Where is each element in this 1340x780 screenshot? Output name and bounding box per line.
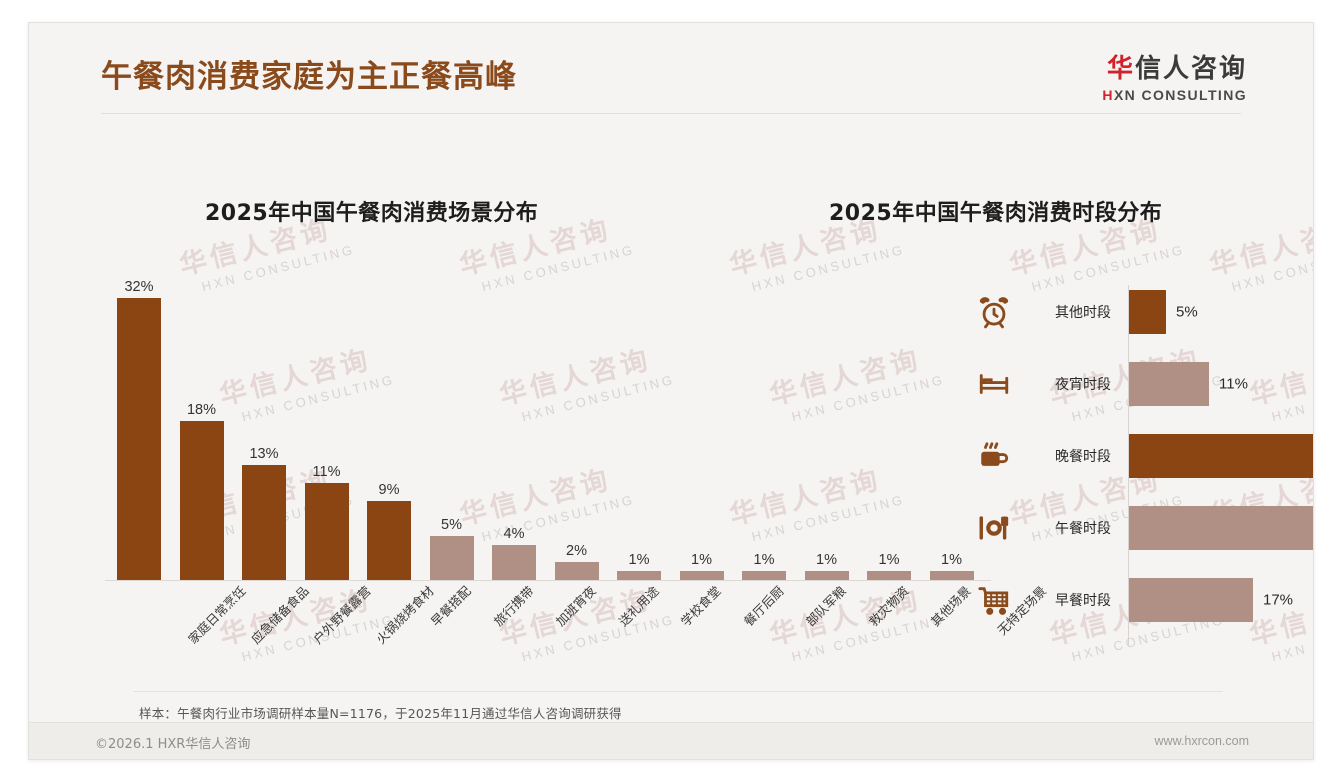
column-bar-label: 救灾物资 (863, 581, 912, 630)
column-bar-label: 户外野餐露营 (308, 581, 374, 647)
dinner-plate-icon (977, 511, 1011, 545)
coffee-cup-icon (977, 439, 1011, 473)
alarm-clock-icon (977, 295, 1011, 329)
bed-icon (977, 367, 1011, 401)
column-bar-label: 部队军粮 (801, 581, 850, 630)
bar-fill (1129, 290, 1166, 334)
bar-fill (1129, 434, 1314, 478)
scene-distribution-chart: 32%家庭日常烹饪18%应急储备食品13%户外野餐露营11%火锅烧烤食材9%早餐… (81, 281, 991, 581)
column-bar-item[interactable]: 18% (180, 421, 224, 580)
shopping-cart-icon (977, 583, 1011, 617)
chart-baseline (105, 580, 991, 581)
column-bar (680, 571, 724, 580)
column-bar-item[interactable]: 1% (617, 571, 661, 580)
column-bar-value: 5% (441, 517, 462, 533)
column-bar (492, 545, 536, 580)
column-bar-label: 加班宵夜 (551, 581, 600, 630)
column-bar-item[interactable]: 2% (555, 562, 599, 580)
logo-english: HXN CONSULTING (1102, 87, 1247, 103)
bar-row[interactable]: 午餐时段28% (969, 503, 1299, 553)
column-bar-value: 11% (313, 464, 341, 480)
note-divider (133, 691, 1223, 692)
column-bar-label: 送礼用途 (613, 581, 662, 630)
logo-chinese-rest: 信人咨询 (1135, 54, 1247, 84)
column-bar-value: 1% (754, 552, 775, 568)
website-link[interactable]: www.hxrcon.com (1155, 734, 1249, 748)
column-bar-value: 1% (879, 552, 900, 568)
column-bar-value: 1% (816, 552, 837, 568)
column-bar-item[interactable]: 1% (680, 571, 724, 580)
bar-row-value: 5% (1176, 304, 1198, 321)
bar-row[interactable]: 夜宵时段11% (969, 359, 1299, 409)
footer-bar: ©2026.1 HXR华信人咨询 www.hxrcon.com (29, 722, 1313, 759)
bar-row[interactable]: 早餐时段17% (969, 575, 1299, 625)
column-bar-value: 1% (629, 552, 650, 568)
chart-title-scene: 2025年中国午餐肉消费场景分布 (205, 195, 538, 227)
column-bar (242, 465, 286, 580)
column-bar (867, 571, 911, 580)
copyright-text: ©2026.1 HXR华信人咨询 (95, 733, 250, 752)
logo-chinese-accent: 华 (1107, 54, 1135, 84)
column-bar-value: 9% (379, 482, 400, 498)
column-bar (742, 571, 786, 580)
column-bar-item[interactable]: 4% (492, 545, 536, 580)
bar-row[interactable]: 晚餐时段39% (969, 431, 1299, 481)
column-bar-value: 2% (566, 543, 587, 559)
header-divider (101, 113, 1241, 114)
column-bar (180, 421, 224, 580)
slide-header: 午餐肉消费家庭为主正餐高峰 华信人咨询 HXN CONSULTING (29, 23, 1313, 111)
column-bar (555, 562, 599, 580)
column-bar-value: 32% (124, 279, 153, 295)
bar-row-label: 午餐时段 (1055, 518, 1111, 538)
column-bar-label: 旅行携带 (488, 581, 537, 630)
column-bar-item[interactable]: 5% (430, 536, 474, 580)
column-bar-value: 1% (691, 552, 712, 568)
column-bar-label: 餐厅后厨 (738, 581, 787, 630)
column-bar-item[interactable]: 1% (742, 571, 786, 580)
column-bar (930, 571, 974, 580)
logo-english-rest: XN CONSULTING (1114, 87, 1247, 103)
column-bar-item[interactable]: 1% (805, 571, 849, 580)
column-bar (117, 298, 161, 580)
bar-row-label: 夜宵时段 (1055, 374, 1111, 394)
column-bar-item[interactable]: 32% (117, 298, 161, 580)
bar-row-value: 17% (1263, 592, 1293, 609)
column-bar-label: 应急储备食品 (245, 581, 311, 647)
column-bar-value: 4% (504, 526, 525, 542)
bar-row[interactable]: 其他时段5% (969, 287, 1299, 337)
bar-row-label: 其他时段 (1055, 302, 1111, 322)
column-bar-label: 其他场景 (926, 581, 975, 630)
bar-fill (1129, 578, 1253, 622)
logo-chinese: 华信人咨询 (1102, 55, 1247, 84)
bar-row-label: 晚餐时段 (1055, 446, 1111, 466)
slide-canvas: 华信人咨询HXN CONSULTING华信人咨询HXN CONSULTING华信… (28, 22, 1314, 760)
column-bar-label: 家庭日常烹饪 (183, 581, 249, 647)
column-bar-item[interactable]: 11% (305, 483, 349, 580)
column-bar (805, 571, 849, 580)
column-bar-item[interactable]: 1% (930, 571, 974, 580)
logo-english-accent: H (1102, 87, 1114, 103)
column-bar-item[interactable]: 1% (867, 571, 911, 580)
column-bar (367, 501, 411, 580)
column-bar-item[interactable]: 9% (367, 501, 411, 580)
column-bar (305, 483, 349, 580)
bar-fill (1129, 362, 1209, 406)
column-bar-value: 13% (249, 446, 278, 462)
page-title: 午餐肉消费家庭为主正餐高峰 (101, 51, 517, 96)
watermark: 华信人咨询HXN CONSULTING (765, 573, 946, 668)
bar-row-value: 11% (1219, 376, 1248, 393)
column-bar-item[interactable]: 13% (242, 465, 286, 580)
bar-fill (1129, 506, 1314, 550)
column-bar (617, 571, 661, 580)
column-bar-value: 18% (187, 402, 216, 418)
time-distribution-chart: 其他时段5%夜宵时段11%晚餐时段39%午餐时段28%早餐时段17% (969, 281, 1299, 649)
bar-row-label: 早餐时段 (1055, 590, 1111, 610)
column-bar-value: 1% (941, 552, 962, 568)
column-bar-label: 早餐搭配 (426, 581, 475, 630)
column-bar (430, 536, 474, 580)
company-logo: 华信人咨询 HXN CONSULTING (1102, 55, 1247, 103)
chart-title-time: 2025年中国午餐肉消费时段分布 (829, 195, 1162, 227)
sample-note: 样本：午餐肉行业市场调研样本量N=1176，于2025年11月通过华信人咨询调研… (139, 703, 622, 722)
column-bar-label: 学校食堂 (676, 581, 725, 630)
